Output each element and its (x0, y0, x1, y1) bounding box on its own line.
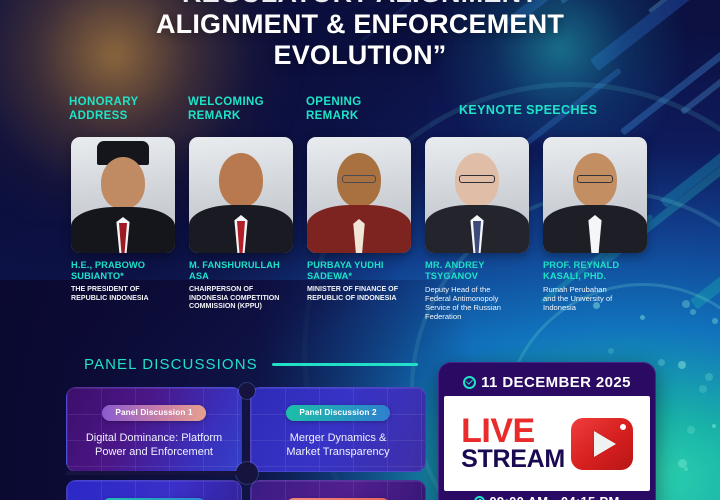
panel-card-3[interactable]: Panel Discussion 3 (66, 480, 242, 500)
role-opening-line1: OPENING (306, 96, 362, 110)
speaker-name-line1: MR. ANDREY (425, 260, 529, 271)
speaker-title: MINISTER OF FINANCE OF REPUBLIC OF INDON… (307, 285, 411, 302)
panel-badge-1: Panel Discussion 1 (102, 405, 205, 421)
panel-cards-grid: Panel Discussion 1 Digital Dominance: Pl… (66, 387, 426, 500)
role-opening-line2: REMARK (306, 110, 362, 124)
headline-line-2: EVOLUTION” (0, 40, 720, 71)
panel-topic-2-line2: Market Transparency (261, 445, 415, 459)
speaker-card: PROF. REYNALD KASALI, PHD. Rumah Perubah… (543, 137, 647, 312)
panel-discussions-rule (272, 363, 418, 366)
livestream-time: 09:00 AM - 04:15 PM (489, 494, 619, 500)
speaker-card: M. FANSHURULLAH ASA CHAIRPERSON OF INDON… (189, 137, 293, 310)
speaker-title-line3: Indonesia (543, 303, 647, 312)
speaker-title-line1: Rumah Perubahan (543, 285, 647, 294)
livestream-card[interactable]: 11 DECEMBER 2025 LIVE STREAM 09:00 AM - … (438, 362, 656, 500)
record-dot-icon (620, 424, 626, 430)
check-circle-icon (463, 376, 476, 389)
speaker-name-line1: PURBAYA YUDHI (307, 260, 411, 271)
role-label-welcoming-remark: WELCOMING REMARK (188, 96, 264, 123)
livestream-wordmark: LIVE STREAM (461, 415, 565, 472)
bokeh-dot-decoration (705, 373, 713, 381)
panel-grid-decoration (67, 388, 241, 471)
panel-card-2[interactable]: Panel Discussion 2 Merger Dynamics & Mar… (250, 387, 426, 472)
bokeh-dot-decoration (690, 309, 696, 315)
clock-icon (474, 496, 485, 500)
speaker-title: CHAIRPERSON OF INDONESIA COMPETITION COM… (189, 285, 293, 310)
speaker-name-line2: KASALI, PHD. (543, 271, 647, 282)
poster-canvas: REGULATORY ALIGNMENT ALIGNMENT & ENFORCE… (0, 0, 720, 500)
speaker-name-line2: TSYGANOV (425, 271, 529, 282)
speaker-card: H.E., PRABOWO SUBIANTO* THE PRESIDENT OF… (71, 137, 175, 302)
speaker-name-line1: PROF. REYNALD (543, 260, 647, 271)
panel-badge-2: Panel Discussion 2 (286, 405, 389, 421)
role-honorary-line2: ADDRESS (69, 110, 138, 124)
play-button-icon[interactable] (571, 418, 633, 470)
livestream-word-stream: STREAM (461, 447, 565, 472)
speaker-name: PURBAYA YUDHI SADEWA* (307, 260, 411, 281)
bokeh-dot-decoration (699, 385, 707, 393)
speaker-title-line2: Federal Antimonopoly (425, 294, 529, 303)
headline-line-partial: REGULATORY ALIGNMENT (0, 0, 720, 9)
panel-discussions-title: PANEL DISCUSSIONS (84, 356, 258, 373)
speaker-name-line2: SUBIANTO* (71, 271, 175, 282)
role-welcoming-line1: WELCOMING (188, 96, 264, 110)
speaker-name: M. FANSHURULLAH ASA (189, 260, 293, 281)
bokeh-dot-decoration (678, 459, 687, 468)
livestream-logo-area: LIVE STREAM (444, 396, 650, 491)
speaker-name: MR. ANDREY TSYGANOV (425, 260, 529, 281)
headline-line-1: ALIGNMENT & ENFORCEMENT (0, 9, 720, 40)
speaker-photo (425, 137, 529, 253)
speaker-title-line1: THE PRESIDENT OF (71, 285, 175, 293)
play-triangle-icon (594, 431, 616, 457)
speaker-title-line2: and the University of (543, 294, 647, 303)
bokeh-dot-decoration (640, 315, 645, 320)
role-label-honorary-address: HONORARY ADDRESS (69, 96, 138, 123)
panel-card-1[interactable]: Panel Discussion 1 Digital Dominance: Pl… (66, 387, 242, 472)
panel-row: Panel Discussion 1 Digital Dominance: Pl… (66, 387, 426, 472)
speaker-title-line1: CHAIRPERSON OF (189, 285, 293, 293)
speaker-card: MR. ANDREY TSYGANOV Deputy Head of the F… (425, 137, 529, 321)
speaker-photo (307, 137, 411, 253)
panel-grid-decoration (251, 388, 425, 471)
panel-topic-2: Merger Dynamics & Market Transparency (251, 431, 425, 459)
speaker-title-line2: REPUBLIC INDONESIA (71, 294, 175, 302)
speaker-title-line1: Deputy Head of the (425, 285, 529, 294)
speaker-title-line4: Federation (425, 312, 529, 321)
speaker-name-line1: H.E., PRABOWO (71, 260, 175, 271)
speaker-title-line2: REPUBLIC OF INDONESIA (307, 294, 411, 302)
livestream-word-live: LIVE (461, 415, 535, 447)
speaker-title-line1: MINISTER OF FINANCE OF (307, 285, 411, 293)
speaker-name-line1: M. FANSHURULLAH (189, 260, 293, 271)
panel-topic-1: Digital Dominance: Platform Power and En… (67, 431, 241, 459)
panel-topic-2-line1: Merger Dynamics & (261, 431, 415, 445)
livestream-date: 11 DECEMBER 2025 (481, 374, 631, 391)
speaker-photo (189, 137, 293, 253)
page-title: REGULATORY ALIGNMENT ALIGNMENT & ENFORCE… (0, 0, 720, 71)
panel-card-4[interactable]: Panel Discussion 4 (250, 480, 426, 500)
role-honorary-line1: HONORARY (69, 96, 138, 110)
speaker-title-line2: INDONESIA COMPETITION (189, 294, 293, 302)
speaker-title: Deputy Head of the Federal Antimonopoly … (425, 285, 529, 321)
speaker-name-line2: SADEWA* (307, 271, 411, 282)
speaker-title-line3: Service of the Russian (425, 303, 529, 312)
speaker-name: H.E., PRABOWO SUBIANTO* (71, 260, 175, 281)
speaker-photo (543, 137, 647, 253)
role-welcoming-line2: REMARK (188, 110, 264, 124)
speaker-name: PROF. REYNALD KASALI, PHD. (543, 260, 647, 281)
speaker-name-line2: ASA (189, 271, 293, 282)
panel-discussions-header: PANEL DISCUSSIONS (84, 356, 418, 373)
panel-topic-1-line2: Power and Enforcement (77, 445, 231, 459)
livestream-date-row: 11 DECEMBER 2025 (444, 368, 650, 396)
panel-row: Panel Discussion 3 Panel Discussion 4 (66, 480, 426, 500)
role-label-keynote-speeches: KEYNOTE SPEECHES (459, 103, 597, 117)
speaker-title-line3: COMMISSION (KPPU) (189, 302, 293, 310)
panel-topic-1-line1: Digital Dominance: Platform (77, 431, 231, 445)
speaker-title: Rumah Perubahan and the University of In… (543, 285, 647, 312)
speaker-title: THE PRESIDENT OF REPUBLIC INDONESIA (71, 285, 175, 302)
speaker-card: PURBAYA YUDHI SADEWA* MINISTER OF FINANC… (307, 137, 411, 302)
livestream-time-row: 09:00 AM - 04:15 PM (444, 491, 650, 500)
role-label-opening-remark: OPENING REMARK (306, 96, 362, 123)
speaker-photo (71, 137, 175, 253)
